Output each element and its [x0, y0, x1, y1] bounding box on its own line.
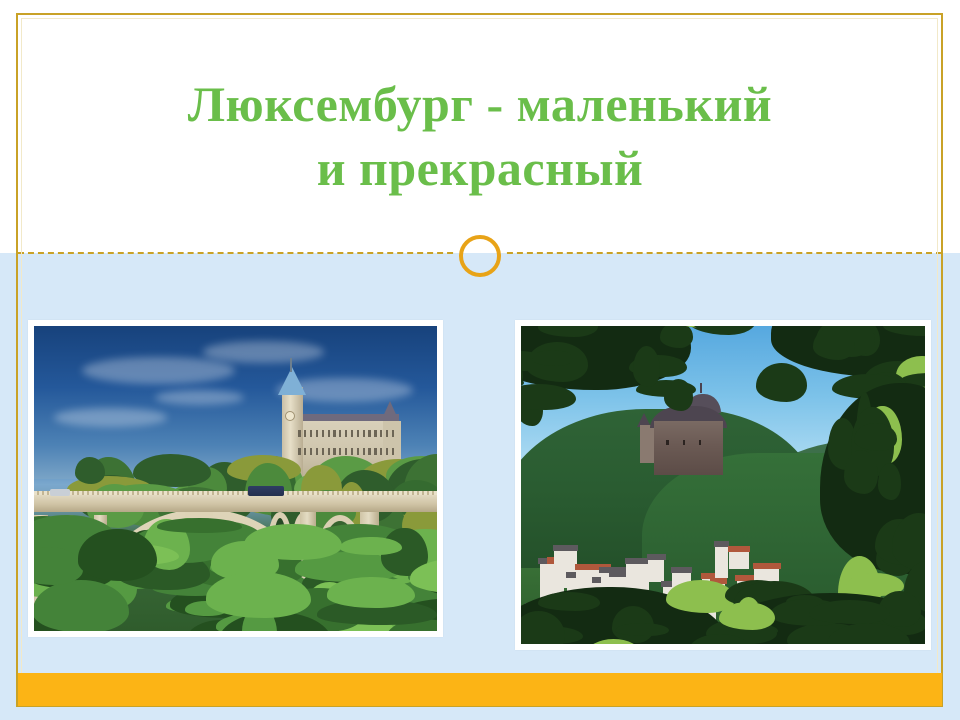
- circle-ornament-icon: [459, 235, 501, 277]
- palace-window: [357, 430, 359, 437]
- palace-window: [392, 448, 394, 455]
- tower-spire: [290, 358, 292, 372]
- leaf: [660, 326, 693, 348]
- foliage-frame: [521, 326, 691, 390]
- leaf: [878, 463, 902, 500]
- palace-window: [298, 430, 300, 437]
- palace-window: [316, 430, 318, 437]
- leaf-cluster: [157, 518, 242, 533]
- palace-window: [328, 430, 330, 437]
- photo-card-vianden-castle: [515, 320, 931, 650]
- palace-window: [298, 448, 300, 455]
- palace-window: [380, 448, 382, 455]
- palace-window: [328, 448, 330, 455]
- castle-spire: [700, 383, 702, 393]
- house-roof: [647, 554, 666, 560]
- palace-window: [316, 448, 318, 455]
- leaf: [664, 379, 694, 411]
- leaf: [756, 363, 808, 402]
- car: [50, 489, 70, 496]
- house-roof: [671, 567, 693, 573]
- leaf: [538, 592, 600, 611]
- palace-window: [310, 448, 312, 455]
- bus: [248, 486, 284, 496]
- palace-window: [363, 448, 365, 455]
- palace-window: [386, 448, 388, 455]
- house-roof: [553, 545, 579, 551]
- palace-window: [374, 448, 376, 455]
- palace-window: [357, 448, 359, 455]
- foliage-frame: [771, 326, 925, 377]
- leaf: [844, 450, 878, 494]
- leaf: [633, 346, 660, 387]
- leaf: [883, 326, 925, 336]
- leaf-cluster: [340, 537, 402, 556]
- castle-window: [683, 440, 685, 445]
- house-roof: [728, 546, 750, 552]
- castle-window: [699, 440, 701, 445]
- bridge-deck: [34, 495, 437, 512]
- tree: [75, 457, 106, 484]
- palace-window: [368, 430, 370, 437]
- palace-window: [380, 430, 382, 437]
- palace-window: [333, 448, 335, 455]
- leaf: [521, 384, 576, 410]
- palace-window: [333, 430, 335, 437]
- palace-window: [386, 430, 388, 437]
- palace-window: [345, 430, 347, 437]
- foreground-foliage: [34, 527, 437, 631]
- leaf: [854, 423, 897, 451]
- cloud: [54, 408, 167, 426]
- leaf: [719, 602, 776, 630]
- leaf: [615, 623, 669, 637]
- palace-window: [351, 430, 353, 437]
- cloud: [203, 341, 324, 362]
- palace-window: [322, 448, 324, 455]
- page-title: Люксембург - маленький и прекрасный: [60, 72, 900, 200]
- house: [729, 551, 749, 569]
- leaf: [538, 326, 598, 337]
- turret-roof: [381, 401, 399, 421]
- castle-window: [666, 440, 668, 445]
- palace-window: [339, 430, 341, 437]
- photo-vianden-castle: [521, 326, 925, 644]
- presentation-slide: Люксембург - маленький и прекрасный: [0, 0, 960, 720]
- house-roof: [753, 563, 781, 569]
- accent-bar: [18, 673, 942, 706]
- photo-adolphe-bridge: [34, 326, 437, 631]
- house: [648, 559, 664, 582]
- leaf: [813, 327, 855, 360]
- palace-window: [368, 448, 370, 455]
- leaf-cluster: [327, 577, 415, 608]
- castle-turret: [640, 425, 655, 463]
- leaf: [532, 350, 573, 366]
- palace-window: [304, 430, 306, 437]
- palace-window: [304, 448, 306, 455]
- palace-window: [392, 430, 394, 437]
- palace-window: [363, 430, 365, 437]
- castle-body: [654, 421, 723, 475]
- foliage-frame: [521, 587, 731, 644]
- palace-window: [345, 448, 347, 455]
- tower-roof: [278, 367, 306, 395]
- leaf: [809, 600, 889, 623]
- palace-window: [310, 430, 312, 437]
- palace-window: [339, 448, 341, 455]
- palace-window: [374, 430, 376, 437]
- palace-window: [351, 448, 353, 455]
- leaf-cluster: [206, 572, 311, 618]
- leaf: [521, 611, 565, 644]
- cloud: [82, 357, 235, 384]
- photo-card-adolphe-bridge: [28, 320, 443, 637]
- house: [715, 546, 728, 578]
- palace-window: [322, 430, 324, 437]
